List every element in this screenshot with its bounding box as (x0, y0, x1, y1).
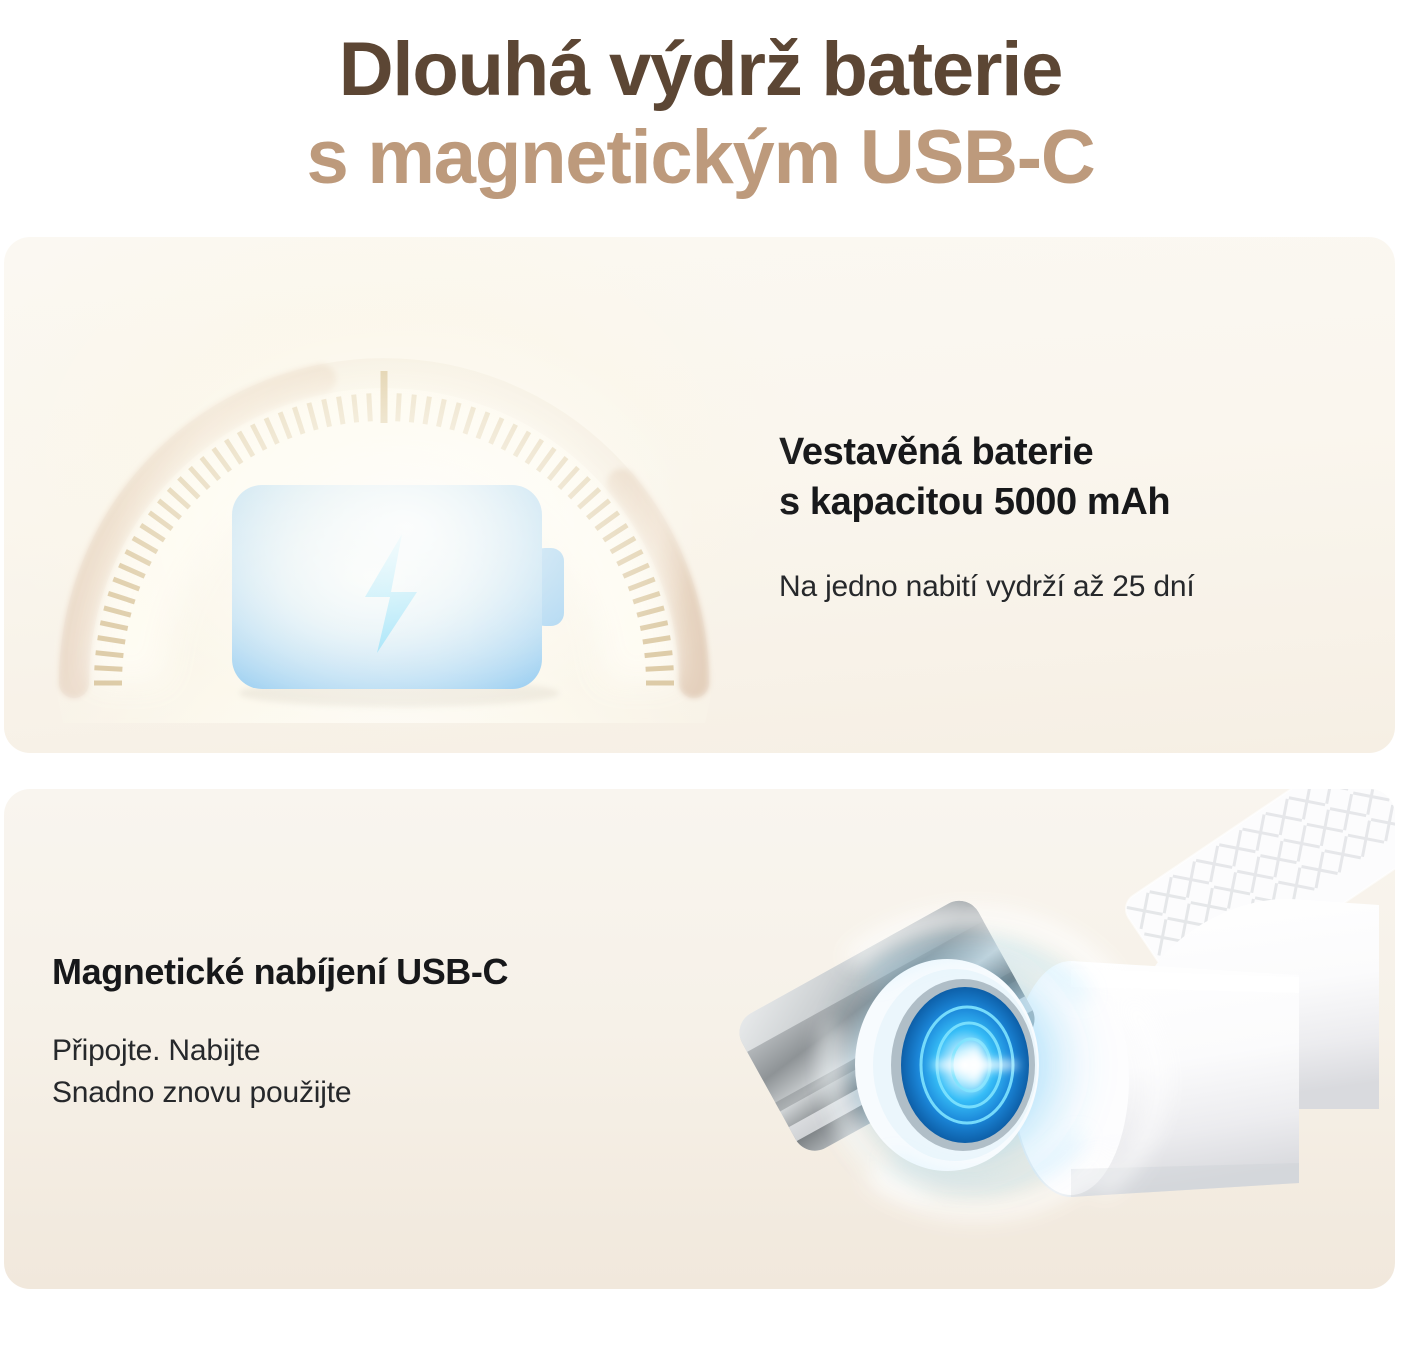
magnetic-text-block: Magnetické nabíjení USB-C Připojte. Nabi… (52, 949, 712, 1115)
magnet-outer-halo (835, 939, 1087, 1191)
cable-sheath (1120, 789, 1395, 1007)
magnet-glow-arcs (829, 917, 1159, 1210)
battery-gauge-svg (34, 253, 734, 723)
magnet-bezel (891, 979, 1035, 1151)
battery-feature-card: Vestavěná baterie s kapacitou 5000 mAh N… (4, 237, 1395, 753)
page-title-line-1: Dlouhá výdrž baterie (0, 26, 1401, 114)
magnetic-feature-card: Magnetické nabíjení USB-C Připojte. Nabi… (4, 789, 1395, 1289)
magnetic-usbc-connector-illustration (679, 789, 1395, 1289)
battery-text-block: Vestavěná baterie s kapacitou 5000 mAh N… (779, 427, 1359, 606)
magnetic-subtext-line-1: Připojte. Nabijte (52, 1034, 260, 1067)
connector-elbow (1145, 899, 1379, 1109)
battery-subtext: Na jedno nabití vydrží až 25 dní (779, 567, 1359, 606)
usbc-tip-highlight (732, 893, 984, 1052)
battery-heading-line-1: Vestavěná baterie (779, 431, 1093, 473)
battery-icon (232, 485, 564, 707)
connector-face (1011, 961, 1131, 1197)
usbc-tip (732, 893, 1043, 1159)
magnetic-subtext: Připojte. Nabijte Snadno znovu použijte (52, 1030, 712, 1115)
magnet-center-spark (931, 1043, 1019, 1087)
battery-heading: Vestavěná baterie s kapacitou 5000 mAh (779, 427, 1359, 527)
usbc-tip-body (732, 893, 1043, 1159)
magnet-glow-arcs-blue (875, 946, 1083, 1185)
magnet-rings (921, 1007, 1013, 1123)
battery-heading-line-2: s kapacitou 5000 mAh (779, 481, 1170, 523)
connector-barrel (1071, 961, 1299, 1197)
magnetic-connector-svg (679, 789, 1395, 1289)
magnet-core (901, 987, 1029, 1143)
cable-braid-texture (1126, 789, 1395, 982)
magnet-collar (855, 959, 1039, 1171)
magnetic-subtext-line-2: Snadno znovu použijte (52, 1076, 351, 1109)
braided-cable (1120, 789, 1395, 1007)
connector-body (1011, 899, 1379, 1197)
battery-gauge-illustration (34, 253, 734, 723)
magnetic-heading: Magnetické nabíjení USB-C (52, 949, 712, 996)
magnetic-head (829, 917, 1159, 1210)
page-title: Dlouhá výdrž baterie s magnetickým USB-C (0, 26, 1401, 202)
page-title-line-2: s magnetickým USB-C (0, 114, 1401, 202)
